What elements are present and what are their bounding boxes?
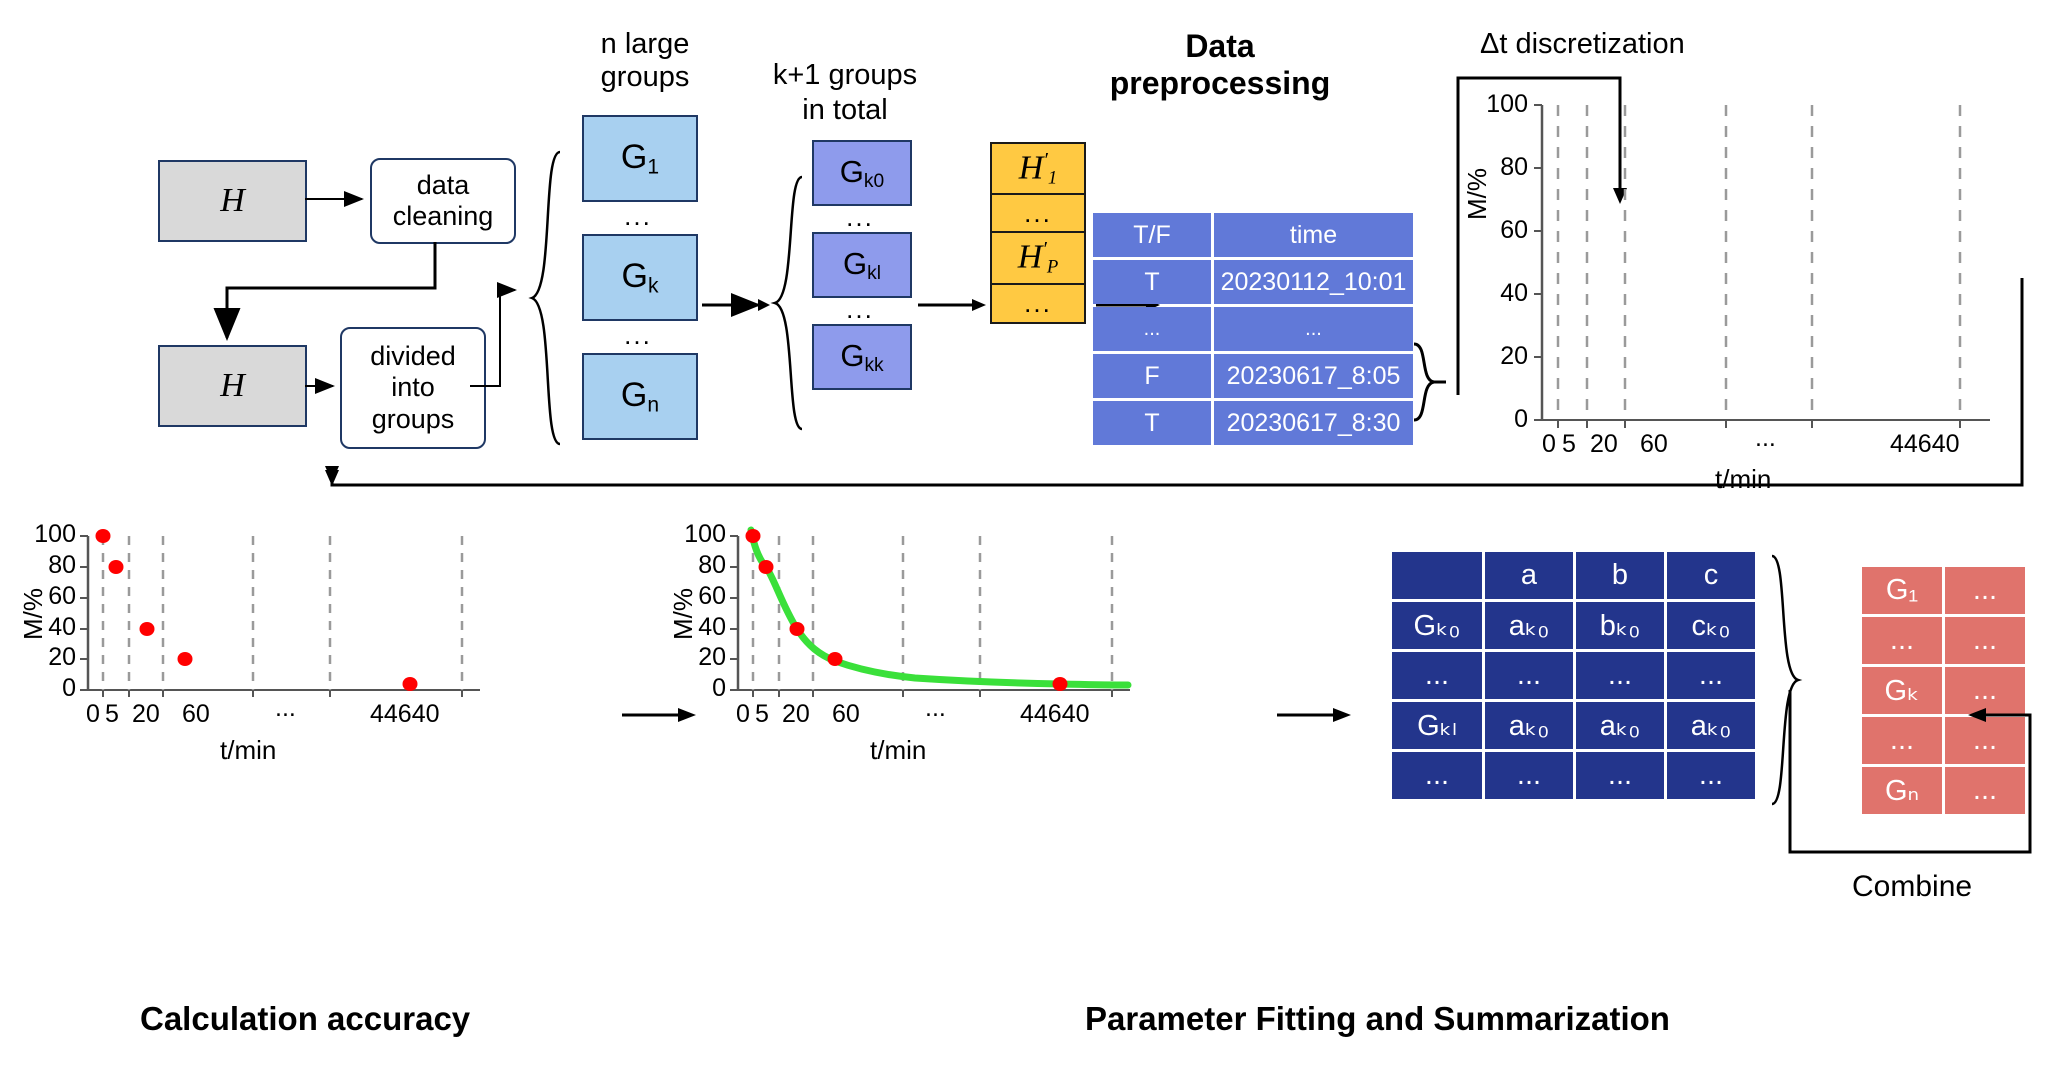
ca-xtick-5: 5 <box>105 700 119 729</box>
param-cell-r1c3: ... <box>1667 652 1755 699</box>
pf-xtick-60: 60 <box>832 700 860 729</box>
param-cell-r3c2: ... <box>1576 752 1664 799</box>
subgroup-ellipsis-1: ... <box>812 202 908 232</box>
ca-xtick-0: 0 <box>86 700 100 729</box>
tf-table-header-row: T/F time <box>1093 213 1413 257</box>
scatter-markers <box>746 529 1068 691</box>
ca-xtick-44640: 44640 <box>370 700 440 729</box>
pf-ytick-0: 0 <box>660 674 726 703</box>
subgroup-box-gk0-sub: k0 <box>864 170 884 191</box>
table-row: ... ... ... ... <box>1392 752 1764 799</box>
pf-xtick-44640: 44640 <box>1020 700 1090 729</box>
tf-header-tf: T/F <box>1093 213 1211 257</box>
pf-xaxis-label: t/min <box>870 735 926 766</box>
param-table-header-row: a b c <box>1392 552 1764 599</box>
ca-ytick-100: 100 <box>10 520 76 549</box>
data-cleaning-label: data cleaning <box>378 170 508 232</box>
pf-xtick-0: 0 <box>736 700 750 729</box>
param-cell-r2c3: aₖ₀ <box>1667 702 1755 749</box>
ca-ytick-20: 20 <box>10 643 76 672</box>
combine-loop-arrow <box>1790 690 2040 870</box>
param-cell-r1c0: ... <box>1392 652 1482 699</box>
input-h-box-2: H <box>158 345 307 427</box>
dt-yaxis-label: M/% <box>1462 168 1493 220</box>
subgroup-box-gk0: Gk0 <box>812 140 912 206</box>
parameter-fitting-chart: 100 80 60 40 20 0 0 5 20 60 ... 44640 t/… <box>530 500 1150 760</box>
param-header-b: b <box>1576 552 1664 599</box>
group-box-g1-sub: 1 <box>647 155 659 178</box>
h-prime-1-sub: 1 <box>1048 167 1057 188</box>
combine-cell-r0c0: G₁ <box>1862 567 1942 614</box>
param-cell-r3c3: ... <box>1667 752 1755 799</box>
param-cell-r1c1: ... <box>1485 652 1573 699</box>
combine-cell-r0c1: ... <box>1945 567 2025 614</box>
scatter-markers <box>96 529 418 691</box>
param-header-c: c <box>1667 552 1755 599</box>
data-cleaning-box[interactable]: data cleaning <box>370 158 516 244</box>
h-symbol-1: H <box>220 182 245 220</box>
table-row: ... ... <box>1862 617 2032 664</box>
h-prime-cell-1: H′1 <box>990 142 1086 194</box>
param-cell-r3c1: ... <box>1485 752 1573 799</box>
table-row: G₁ ... <box>1862 567 2032 614</box>
combine-cell-r1c1: ... <box>1945 617 2025 664</box>
param-header-blank <box>1392 552 1482 599</box>
h-symbol-2: H <box>220 367 245 405</box>
param-cell-r2c2: aₖ₀ <box>1576 702 1664 749</box>
data-preprocessing-title: Data preprocessing <box>1080 28 1360 102</box>
arrow-fitting-to-param-table <box>1275 700 1355 730</box>
pf-xtick-20: 20 <box>782 700 810 729</box>
dt-ytick-60: 60 <box>1462 216 1528 245</box>
param-cell-r1c2: ... <box>1576 652 1664 699</box>
tf-header-time: time <box>1214 213 1413 257</box>
ca-yaxis-label: M/% <box>18 588 49 640</box>
param-cell-r0c1: aₖ₀ <box>1485 602 1573 649</box>
table-row: Gₖ₀ aₖ₀ bₖ₀ cₖ₀ <box>1392 602 1764 649</box>
n-large-groups-label: n large groups <box>560 28 730 95</box>
h-prime-cell-2: ... <box>990 194 1086 232</box>
param-cell-r3c0: ... <box>1392 752 1482 799</box>
param-cell-r0c2: bₖ₀ <box>1576 602 1664 649</box>
group-ellipsis-1: ... <box>582 198 694 234</box>
calculation-accuracy-title: Calculation accuracy <box>140 1000 470 1038</box>
ca-xtick-ellipsis: ... <box>275 694 296 723</box>
param-table: a b c Gₖ₀ aₖ₀ bₖ₀ cₖ₀ ... ... ... ... Gₖ… <box>1392 552 1764 799</box>
dt-ytick-100: 100 <box>1462 90 1528 119</box>
ca-xaxis-label: t/min <box>220 735 276 766</box>
param-cell-r2c0: Gₖₗ <box>1392 702 1482 749</box>
pf-xtick-5: 5 <box>755 700 769 729</box>
pf-ytick-80: 80 <box>660 551 726 580</box>
pf-ytick-100: 100 <box>660 520 726 549</box>
ca-xtick-20: 20 <box>132 700 160 729</box>
param-cell-r0c3: cₖ₀ <box>1667 602 1755 649</box>
parameter-fitting-title: Parameter Fitting and Summarization <box>1085 1000 1670 1038</box>
table-row: ... ... ... ... <box>1392 652 1764 699</box>
ca-ytick-80: 80 <box>10 551 76 580</box>
ca-ytick-0: 0 <box>10 674 76 703</box>
input-h-box-1: H <box>158 160 307 242</box>
table-row: Gₖₗ aₖ₀ aₖ₀ aₖ₀ <box>1392 702 1764 749</box>
group-box-g1: G1 <box>582 115 698 202</box>
ca-xtick-60: 60 <box>182 700 210 729</box>
param-cell-r0c0: Gₖ₀ <box>1392 602 1482 649</box>
combine-cell-r1c0: ... <box>1862 617 1942 664</box>
combine-label: Combine <box>1852 870 1972 904</box>
pf-yaxis-label: M/% <box>668 588 699 640</box>
connector-to-bottom-charts <box>300 270 2030 500</box>
param-header-a: a <box>1485 552 1573 599</box>
pf-ytick-20: 20 <box>660 643 726 672</box>
param-cell-r2c1: aₖ₀ <box>1485 702 1573 749</box>
pf-xtick-ellipsis: ... <box>925 694 946 723</box>
k-plus-1-groups-label: k+1 groups in total <box>760 58 930 128</box>
